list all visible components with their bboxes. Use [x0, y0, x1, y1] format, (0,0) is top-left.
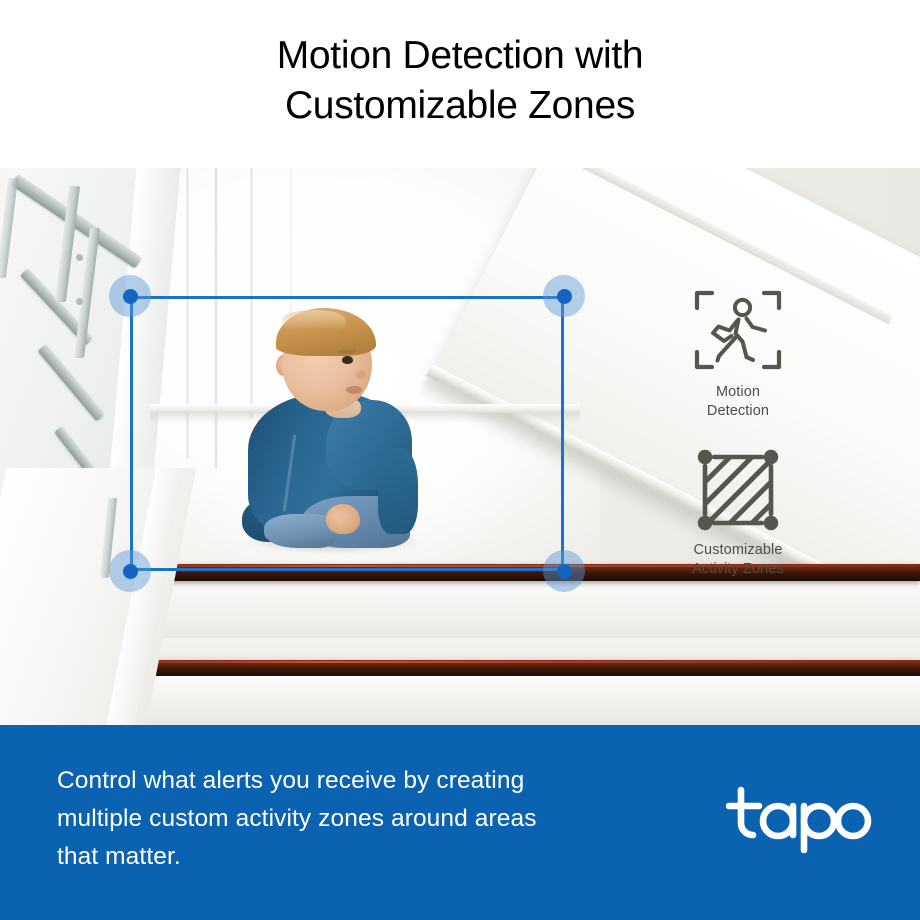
stair-tread: [80, 676, 920, 725]
activity-zone-rectangle[interactable]: [130, 296, 564, 571]
footer-line-3: that matter.: [57, 843, 181, 870]
header-band: Motion Detection with Customizable Zones: [0, 0, 920, 168]
zone-handle-bottom-right[interactable]: [543, 550, 585, 592]
feature-label-line-2: Detection: [707, 403, 769, 419]
page-title-line-2: Customizable Zones: [277, 81, 644, 131]
footer-line-1: Control what alerts you receive by creat…: [57, 767, 524, 794]
footer-description: Control what alerts you receive by creat…: [57, 762, 657, 876]
product-feature-card: Motion Detection with Customizable Zones: [0, 0, 920, 920]
tapo-logo: [726, 786, 876, 854]
zone-handle-top-right[interactable]: [543, 275, 585, 317]
rail-screw: [76, 254, 83, 261]
page-title-line-1: Motion Detection with: [277, 34, 644, 77]
feature-label: Motion Detection: [653, 383, 823, 421]
feature-label-line-1: Customizable: [693, 542, 782, 558]
motion-detection-icon: [691, 286, 785, 374]
feature-activity-zones: Customizable Activity Zones: [653, 448, 823, 579]
feature-motion-detection: Motion Detection: [653, 286, 823, 421]
zone-handle-top-left[interactable]: [109, 275, 151, 317]
footer-line-2: multiple custom activity zones around ar…: [57, 805, 537, 832]
rail-screw: [76, 298, 83, 305]
tapo-logo-mark: [726, 786, 876, 854]
feature-label-line-2: Activity Zones: [692, 561, 784, 577]
feature-label: Customizable Activity Zones: [653, 541, 823, 579]
camera-preview-photo: Motion Detection: [0, 168, 920, 725]
activity-zones-icon: [693, 448, 783, 532]
zone-handle-bottom-left[interactable]: [109, 550, 151, 592]
stair-nosing-highlight: [98, 661, 918, 663]
feature-label-line-1: Motion: [716, 384, 760, 400]
page-title: Motion Detection with Customizable Zones: [277, 31, 644, 137]
